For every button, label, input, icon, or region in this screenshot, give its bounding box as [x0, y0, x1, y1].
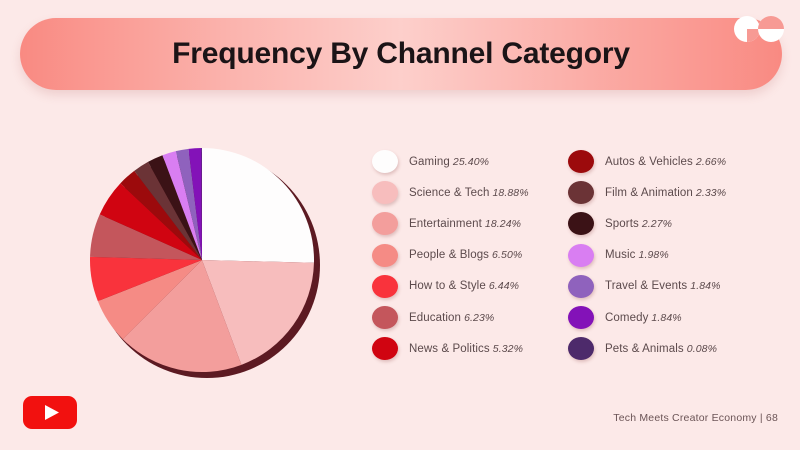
legend-item-label: How to & Style6.44%: [409, 280, 519, 292]
pie-chart-svg: [89, 147, 321, 379]
legend-item-value: 6.44%: [489, 280, 519, 292]
legend-item-label: Travel & Events1.84%: [605, 280, 721, 292]
color-swatch-news-politics: [372, 337, 398, 360]
color-swatch-entertainment: [372, 212, 398, 235]
legend-item[interactable]: Film & Animation2.33%: [568, 177, 764, 208]
page-title: Frequency By Channel Category: [20, 18, 782, 90]
legend-item[interactable]: Education6.23%: [372, 302, 568, 333]
color-swatch-pets-animals: [568, 337, 594, 360]
legend-item-value: 1.84%: [690, 280, 720, 292]
color-swatch-how-to-style: [372, 275, 398, 298]
legend-item-label: Comedy1.84%: [605, 312, 682, 324]
legend-item-label: Music1.98%: [605, 249, 669, 261]
legend-item-value: 25.40%: [453, 156, 489, 168]
legend-item-label: Autos & Vehicles2.66%: [605, 156, 726, 168]
legend-item[interactable]: Entertainment18.24%: [372, 208, 568, 239]
color-swatch-education: [372, 306, 398, 329]
legend-item[interactable]: Music1.98%: [568, 240, 764, 271]
legend-item[interactable]: How to & Style6.44%: [372, 271, 568, 302]
legend-item-label: Pets & Animals0.08%: [605, 343, 717, 355]
chart-legend: Gaming25.40% Science & Tech18.88% Entert…: [372, 146, 784, 364]
legend-item-value: 2.27%: [642, 218, 672, 230]
legend-item-value: 0.08%: [687, 343, 717, 355]
legend-item-label: Education6.23%: [409, 312, 494, 324]
legend-item-label: Film & Animation2.33%: [605, 187, 726, 199]
legend-item[interactable]: News & Politics5.32%: [372, 333, 568, 364]
color-swatch-autos-vehicles: [568, 150, 594, 173]
color-swatch-music: [568, 244, 594, 267]
color-swatch-sports: [568, 212, 594, 235]
legend-item-value: 5.32%: [493, 343, 523, 355]
color-swatch-travel-events: [568, 275, 594, 298]
pie-slice[interactable]: [202, 148, 314, 263]
color-swatch-people-blogs: [372, 244, 398, 267]
legend-item-value: 6.23%: [464, 312, 494, 324]
legend-item-label: Gaming25.40%: [409, 156, 489, 168]
footer-note: Tech Meets Creator Economy | 68: [613, 412, 778, 424]
legend-item[interactable]: Sports2.27%: [568, 208, 764, 239]
color-swatch-comedy: [568, 306, 594, 329]
legend-item-label: Entertainment18.24%: [409, 218, 521, 230]
legend-item[interactable]: Autos & Vehicles2.66%: [568, 146, 764, 177]
legend-item-value: 2.33%: [696, 187, 726, 199]
youtube-play-icon[interactable]: [22, 392, 78, 432]
legend-item[interactable]: Science & Tech18.88%: [372, 177, 568, 208]
legend-item-value: 18.24%: [485, 218, 521, 230]
legend-item-value: 6.50%: [492, 249, 522, 261]
legend-column-left: Gaming25.40% Science & Tech18.88% Entert…: [372, 146, 568, 364]
color-swatch-science-tech: [372, 181, 398, 204]
legend-item-value: 18.88%: [492, 187, 528, 199]
header-banner: Frequency By Channel Category: [20, 18, 782, 90]
legend-item[interactable]: People & Blogs6.50%: [372, 240, 568, 271]
legend-item-label: News & Politics5.32%: [409, 343, 523, 355]
pie-chart: [89, 147, 321, 379]
two-circles-eyes-icon: [732, 14, 786, 44]
legend-item-label: Science & Tech18.88%: [409, 187, 529, 199]
color-swatch-film-animation: [568, 181, 594, 204]
legend-item[interactable]: Comedy1.84%: [568, 302, 764, 333]
legend-column-right: Autos & Vehicles2.66% Film & Animation2.…: [568, 146, 764, 364]
legend-item[interactable]: Travel & Events1.84%: [568, 271, 764, 302]
legend-item-value: 1.84%: [651, 312, 681, 324]
legend-item[interactable]: Pets & Animals0.08%: [568, 333, 764, 364]
color-swatch-gaming: [372, 150, 398, 173]
legend-item-label: People & Blogs6.50%: [409, 249, 522, 261]
legend-item-value: 1.98%: [639, 249, 669, 261]
legend-item-label: Sports2.27%: [605, 218, 672, 230]
legend-item[interactable]: Gaming25.40%: [372, 146, 568, 177]
legend-item-value: 2.66%: [696, 156, 726, 168]
